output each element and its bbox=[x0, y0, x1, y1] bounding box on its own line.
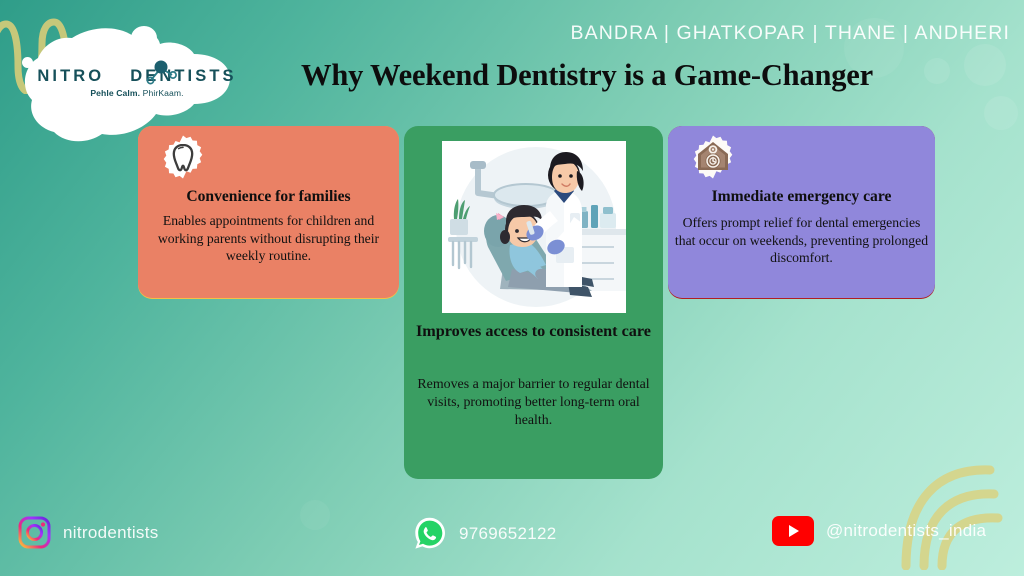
card-body: Offers prompt relief for dental emergenc… bbox=[672, 214, 931, 267]
infographic-canvas: NITRO DENTISTS Pehle Calm. PhirKaam. BAN… bbox=[0, 0, 1024, 576]
instagram-icon[interactable] bbox=[18, 516, 51, 549]
tooth-icon bbox=[160, 134, 206, 180]
dentist-treating-child-illustration bbox=[442, 141, 626, 313]
card-body: Enables appointments for children and wo… bbox=[146, 212, 391, 265]
benefit-card-improves-access-to-consistent-care[interactable]: Improves access to consistent care Remov… bbox=[404, 126, 663, 479]
benefit-card-convenience-for-families[interactable]: Convenience for families Enables appoint… bbox=[138, 126, 399, 298]
card-heading: Convenience for families bbox=[144, 188, 393, 206]
card-body: Removes a major barrier to regular denta… bbox=[412, 376, 655, 429]
footer-social-bar: nitrodentists 9769652122 @nitrodentists_… bbox=[0, 498, 1024, 576]
benefit-card-grid: Eliminates scheduling conflicts No need … bbox=[138, 126, 935, 479]
benefit-card-immediate-emergency-care[interactable]: Immediate emergency care Offers prompt r… bbox=[668, 126, 935, 298]
page-title: Why Weekend Dentistry is a Game-Changer bbox=[0, 58, 1024, 93]
whatsapp-number: 9769652122 bbox=[459, 524, 557, 544]
footer-youtube[interactable]: @nitrodentists_india bbox=[772, 516, 986, 546]
footer-instagram[interactable]: nitrodentists bbox=[18, 516, 159, 549]
card-heading: Improves access to consistent care bbox=[414, 322, 653, 340]
clinic-locations: BANDRA | GHATKOPAR | THANE | ANDHERI bbox=[571, 22, 1010, 45]
footer-whatsapp[interactable]: 9769652122 bbox=[412, 516, 557, 551]
background-blob bbox=[984, 96, 1018, 130]
instagram-handle: nitrodentists bbox=[63, 523, 159, 543]
whatsapp-icon[interactable] bbox=[412, 516, 447, 551]
youtube-icon[interactable] bbox=[772, 516, 814, 546]
youtube-handle: @nitrodentists_india bbox=[826, 521, 986, 541]
house-clock-icon bbox=[690, 134, 736, 180]
card-heading: Immediate emergency care bbox=[674, 188, 929, 206]
